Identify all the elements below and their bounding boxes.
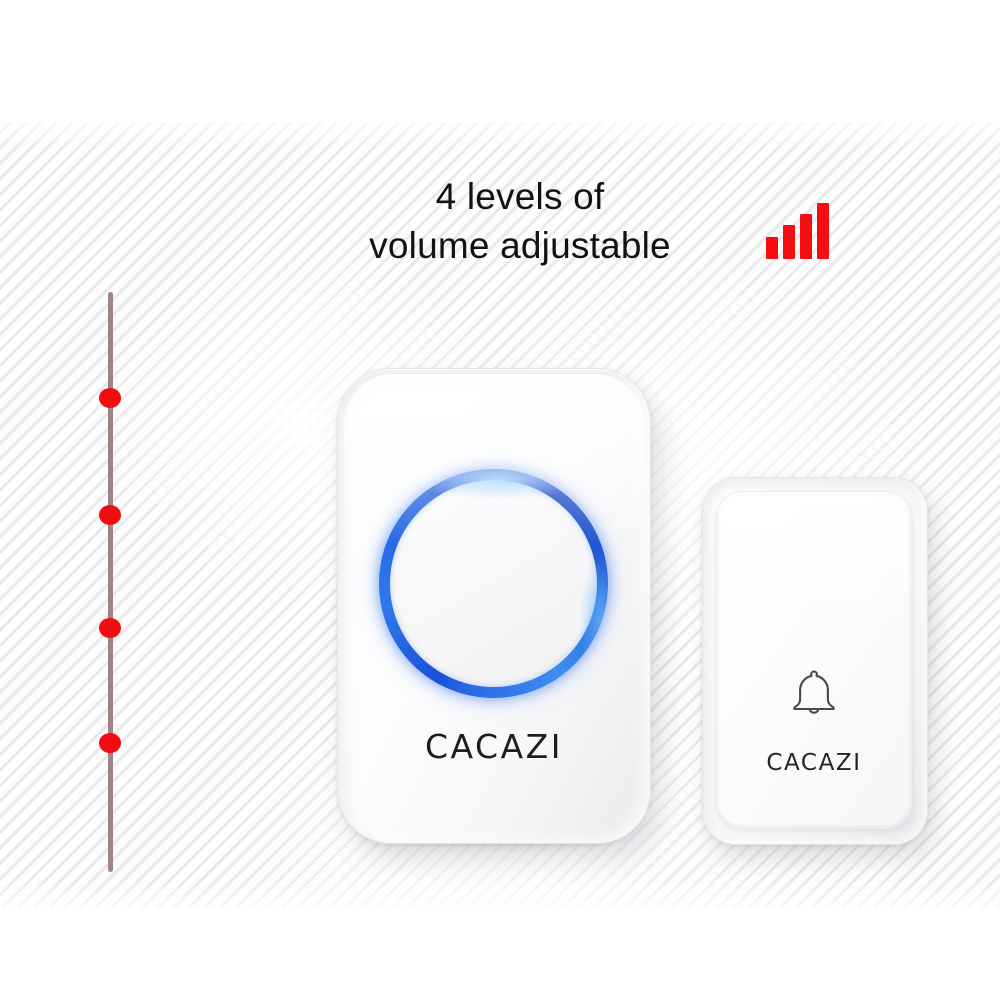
- bell-icon: [786, 664, 842, 720]
- led-ring-inner-face: [390, 480, 597, 687]
- volume-level-dot-4: [99, 733, 121, 753]
- background-fade-bottom: [0, 880, 1000, 920]
- push-button-face: CACAZI: [716, 491, 912, 829]
- signal-bar-1: [766, 237, 778, 259]
- push-button-brand-label: CACAZI: [717, 750, 911, 776]
- background-fade-top: [0, 110, 1000, 150]
- product-feature-image: 4 levels of volume adjustable CACAZI C: [0, 0, 1000, 1000]
- headline-line-2: volume adjustable: [300, 221, 740, 270]
- push-button-gloss: [721, 495, 907, 645]
- doorbell-push-button: CACAZI: [702, 477, 928, 845]
- signal-bars-icon: [766, 203, 834, 259]
- signal-bar-2: [783, 225, 795, 259]
- signal-bar-4: [817, 203, 829, 259]
- signal-bar-3: [800, 214, 812, 259]
- volume-level-scale-line: [108, 292, 113, 872]
- headline-line-1: 4 levels of: [300, 172, 740, 221]
- led-ring-icon: [379, 469, 608, 698]
- doorbell-receiver: CACAZI: [337, 368, 651, 844]
- headline-text: 4 levels of volume adjustable: [300, 172, 740, 270]
- volume-level-dot-1: [99, 388, 121, 408]
- receiver-brand-label: CACAZI: [338, 727, 650, 766]
- volume-level-dot-2: [99, 505, 121, 525]
- volume-level-dot-3: [99, 618, 121, 638]
